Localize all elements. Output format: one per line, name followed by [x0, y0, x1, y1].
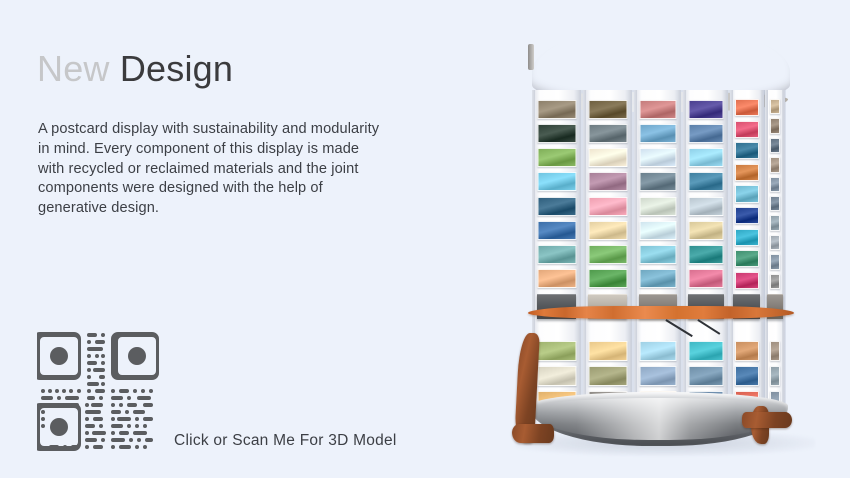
- postcard: [537, 221, 576, 240]
- postcard: [770, 254, 780, 270]
- info-panel: New Design A postcard display with susta…: [0, 0, 470, 478]
- postcard: [735, 229, 759, 246]
- display-column: [730, 90, 764, 410]
- postcard: [537, 341, 576, 361]
- postcard: [688, 221, 723, 240]
- postcard: [735, 164, 759, 181]
- page-canvas: New Design A postcard display with susta…: [0, 0, 850, 478]
- postcard: [770, 157, 780, 173]
- postcard: [537, 148, 576, 167]
- postcard: [639, 366, 676, 386]
- display-column: [634, 90, 681, 410]
- postcard: [537, 124, 576, 143]
- column-rail-left: [584, 90, 586, 410]
- display-column: [765, 90, 785, 410]
- postcard: [735, 366, 759, 386]
- postcard: [588, 269, 627, 288]
- postcard: [537, 100, 576, 119]
- postcard: [770, 196, 780, 212]
- postcard: [688, 269, 723, 288]
- postcard: [588, 366, 627, 386]
- column-rail-right: [761, 90, 763, 410]
- postcard-display-3d-render[interactable]: [470, 0, 850, 478]
- postcard: [688, 124, 723, 143]
- display-canopy-bracket: [528, 44, 534, 70]
- postcard: [770, 341, 780, 361]
- page-title-word-dark: Design: [120, 48, 233, 89]
- description-paragraph: A postcard display with sustainability a…: [38, 120, 383, 219]
- postcard: [770, 215, 780, 231]
- postcard: [537, 245, 576, 264]
- postcard: [588, 341, 627, 361]
- postcard: [735, 99, 759, 116]
- qr-caption: Click or Scan Me For 3D Model: [174, 432, 397, 450]
- qr-code-graphic[interactable]: [37, 329, 159, 455]
- postcard: [537, 366, 576, 386]
- postcard: [588, 197, 627, 216]
- qr-code[interactable]: [37, 329, 159, 455]
- postcard: [537, 269, 576, 288]
- postcard: [639, 269, 676, 288]
- postcard: [735, 272, 759, 289]
- postcard: [735, 207, 759, 224]
- postcard: [770, 235, 780, 251]
- display-foot-right-toe: [742, 412, 792, 428]
- postcard: [588, 124, 627, 143]
- postcard: [735, 250, 759, 267]
- postcard: [588, 221, 627, 240]
- postcard: [639, 221, 676, 240]
- display-foot-left-toe: [512, 424, 554, 443]
- column-rail-right: [725, 90, 727, 410]
- postcard: [735, 185, 759, 202]
- postcard: [639, 148, 676, 167]
- postcard: [688, 197, 723, 216]
- display-card-columns: [532, 90, 790, 410]
- postcard: [639, 100, 676, 119]
- postcard: [588, 148, 627, 167]
- postcard: [688, 100, 723, 119]
- postcard: [770, 366, 780, 386]
- column-rail-left: [731, 90, 733, 410]
- postcard: [588, 100, 627, 119]
- postcard: [735, 142, 759, 159]
- column-rail-left: [766, 90, 768, 410]
- postcard: [688, 341, 723, 361]
- postcard: [588, 172, 627, 191]
- column-rail-right: [578, 90, 580, 410]
- page-title: New Design: [37, 48, 233, 90]
- postcard: [537, 197, 576, 216]
- column-rail-right: [782, 90, 784, 410]
- postcard: [639, 197, 676, 216]
- display-column: [683, 90, 728, 410]
- postcard: [735, 341, 759, 361]
- postcard: [639, 124, 676, 143]
- postcard: [639, 341, 676, 361]
- description-text: A postcard display with sustainability a…: [38, 120, 383, 219]
- postcard: [735, 121, 759, 138]
- postcard: [770, 118, 780, 134]
- column-rail-right: [629, 90, 631, 410]
- column-rail-left: [684, 90, 686, 410]
- postcard: [770, 274, 780, 290]
- postcard: [639, 245, 676, 264]
- postcard: [688, 245, 723, 264]
- postcard: [770, 177, 780, 193]
- postcard: [770, 99, 780, 115]
- page-title-word-light: New: [37, 48, 110, 89]
- postcard: [770, 138, 780, 154]
- display-column: [532, 90, 581, 410]
- postcard: [537, 172, 576, 191]
- postcard: [688, 172, 723, 191]
- postcard: [588, 245, 627, 264]
- display-column: [583, 90, 632, 410]
- display-wood-shelf-rail: [528, 306, 794, 319]
- column-rail-right: [678, 90, 680, 410]
- postcard: [688, 366, 723, 386]
- column-rail-left: [635, 90, 637, 410]
- postcard: [639, 172, 676, 191]
- postcard: [688, 148, 723, 167]
